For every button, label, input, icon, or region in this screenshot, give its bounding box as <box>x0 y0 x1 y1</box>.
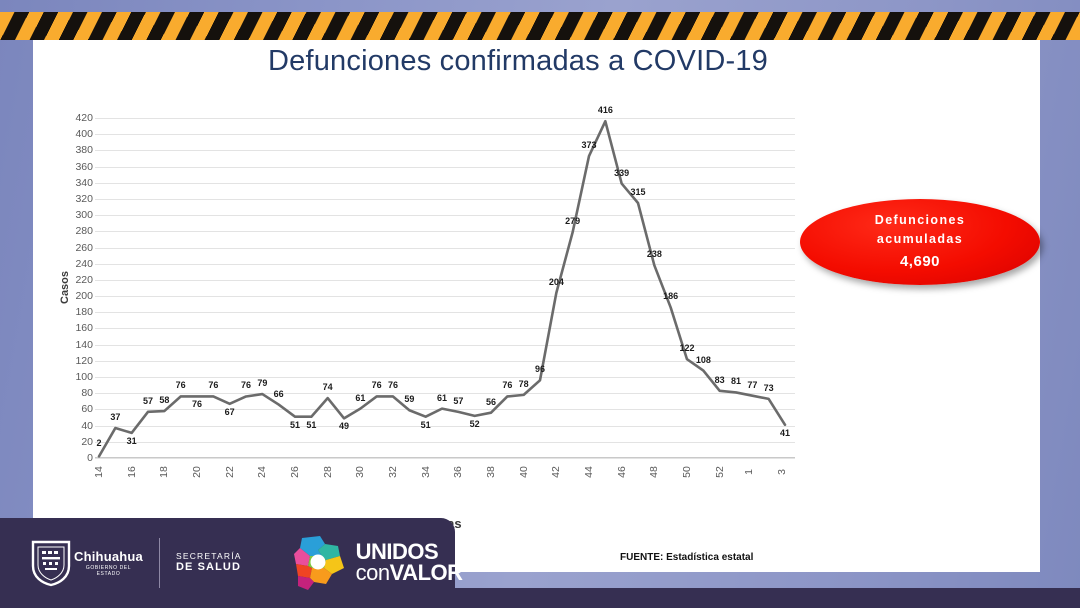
data-point-label: 51 <box>421 420 431 430</box>
x-axis-tick: 18 <box>158 466 170 478</box>
data-point-label: 57 <box>453 396 463 406</box>
y-axis-label: Casos <box>59 271 71 304</box>
source-note: FUENTE: Estadística estatal <box>620 552 753 563</box>
x-axis-tick: 38 <box>485 466 497 478</box>
x-axis-tick: 42 <box>550 466 562 478</box>
data-point-label: 416 <box>598 105 613 115</box>
data-point-label: 66 <box>274 389 284 399</box>
data-point-label: 238 <box>647 249 662 259</box>
data-point-label: 57 <box>143 396 153 406</box>
y-axis-tick: 0 <box>87 452 93 464</box>
data-point-label: 81 <box>731 376 741 386</box>
y-axis-tick: 220 <box>75 274 93 286</box>
plot-area: 0204060801001201401601802002202402602803… <box>95 118 795 458</box>
callout-text-group: Defunciones acumuladas 4,690 <box>800 199 1040 285</box>
secretaria-line-1: SECRETARÍA <box>176 551 242 562</box>
footer-branding-bar: Chihuahua GOBIERNO DEL ESTADO SECRETARÍA… <box>0 518 455 608</box>
data-point-label: 61 <box>437 393 447 403</box>
callout-line-1: Defunciones <box>875 211 965 230</box>
y-axis-tick: 100 <box>75 371 93 383</box>
data-point-label: 61 <box>355 393 365 403</box>
data-point-label: 373 <box>581 140 596 150</box>
data-point-label: 279 <box>565 216 580 226</box>
data-point-label: 315 <box>630 187 645 197</box>
data-point-label: 76 <box>176 380 186 390</box>
x-axis-tick: 48 <box>648 466 660 478</box>
covid-deaths-line-chart: Casos Semanas 02040608010012014016018020… <box>53 108 813 538</box>
brand-divider <box>159 538 160 588</box>
page-title: Defunciones confirmadas a COVID-19 <box>33 45 1003 78</box>
x-axis-tick: 24 <box>256 466 268 478</box>
unidos-con: con <box>356 560 390 585</box>
y-axis-tick: 420 <box>75 112 93 124</box>
data-point-label: 67 <box>225 407 235 417</box>
data-point-label: 108 <box>696 355 711 365</box>
x-axis-tick: 40 <box>518 466 530 478</box>
data-point-label: 37 <box>110 412 120 422</box>
y-axis-tick: 380 <box>75 144 93 156</box>
unidos-line-2: conVALOR <box>356 563 463 584</box>
x-axis-tick: 52 <box>714 466 726 478</box>
y-axis-tick: 400 <box>75 128 93 140</box>
slide-content-panel: Defunciones confirmadas a COVID-19 Casos… <box>33 38 1040 572</box>
grid-line <box>95 458 795 459</box>
callout-total-value: 4,690 <box>900 250 940 273</box>
accumulated-deaths-callout: Defunciones acumuladas 4,690 <box>800 199 1040 285</box>
data-point-label: 76 <box>372 380 382 390</box>
y-axis-tick: 120 <box>75 355 93 367</box>
x-axis-tick: 26 <box>289 466 301 478</box>
y-axis-tick: 320 <box>75 193 93 205</box>
x-axis-tick: 14 <box>93 466 105 478</box>
y-axis-tick: 360 <box>75 161 93 173</box>
y-axis-tick: 140 <box>75 339 93 351</box>
secretaria-line-2: DE SALUD <box>176 561 242 575</box>
data-point-label: 2 <box>96 438 101 448</box>
data-point-label: 56 <box>486 397 496 407</box>
y-axis-tick: 340 <box>75 177 93 189</box>
state-subtitle: GOBIERNO DEL ESTADO <box>74 565 143 577</box>
data-point-label: 204 <box>549 277 564 287</box>
unidos-valor: VALOR <box>390 560 463 585</box>
brand-row: Chihuahua GOBIERNO DEL ESTADO SECRETARÍA… <box>30 530 463 596</box>
y-axis-tick: 280 <box>75 225 93 237</box>
state-name: Chihuahua <box>74 549 143 564</box>
unidos-wordmark: UNIDOS conVALOR <box>356 542 463 583</box>
data-point-label: 76 <box>502 380 512 390</box>
data-point-label: 122 <box>679 343 694 353</box>
chihuahua-map-icon <box>288 534 348 592</box>
y-axis-tick: 300 <box>75 209 93 221</box>
data-point-label: 96 <box>535 364 545 374</box>
y-axis-tick: 240 <box>75 258 93 270</box>
y-axis-tick: 60 <box>81 403 93 415</box>
y-axis-tick: 20 <box>81 436 93 448</box>
x-axis-tick: 1 <box>746 466 752 478</box>
data-point-label: 51 <box>306 420 316 430</box>
data-point-label: 59 <box>404 394 414 404</box>
data-point-label: 76 <box>208 380 218 390</box>
data-point-label: 73 <box>764 383 774 393</box>
data-point-label: 77 <box>747 380 757 390</box>
data-point-label: 76 <box>241 380 251 390</box>
x-axis-tick: 20 <box>191 466 203 478</box>
x-axis-tick: 16 <box>126 466 138 478</box>
y-axis-tick: 80 <box>81 387 93 399</box>
x-axis-tick: 44 <box>583 466 595 478</box>
x-axis-tick: 34 <box>420 466 432 478</box>
data-point-label: 186 <box>663 291 678 301</box>
x-axis-tick: 32 <box>387 466 399 478</box>
health-ministry-brand: SECRETARÍA DE SALUD <box>176 551 242 575</box>
data-point-label: 79 <box>257 378 267 388</box>
data-point-label: 51 <box>290 420 300 430</box>
x-axis-tick: 22 <box>224 466 236 478</box>
x-axis-tick: 46 <box>616 466 628 478</box>
data-point-label: 83 <box>715 375 725 385</box>
y-axis-tick: 180 <box>75 306 93 318</box>
callout-line-2: acumuladas <box>877 230 963 249</box>
data-point-label: 58 <box>159 395 169 405</box>
data-point-label: 76 <box>192 399 202 409</box>
data-point-label: 52 <box>470 419 480 429</box>
data-point-label: 76 <box>388 380 398 390</box>
data-point-label: 339 <box>614 168 629 178</box>
y-axis-tick: 160 <box>75 322 93 334</box>
x-axis-tick: 36 <box>452 466 464 478</box>
state-brand: Chihuahua GOBIERNO DEL ESTADO <box>74 549 143 577</box>
x-axis-tick: 28 <box>322 466 334 478</box>
y-axis-tick: 40 <box>81 420 93 432</box>
data-point-label: 49 <box>339 421 349 431</box>
data-point-label: 41 <box>780 428 790 438</box>
y-axis-tick: 260 <box>75 242 93 254</box>
shield-icon <box>30 539 72 587</box>
hazard-stripe-decoration <box>0 12 1080 40</box>
unidos-con-valor-logo: UNIDOS conVALOR <box>288 534 463 592</box>
x-axis-tick: 3 <box>779 466 785 478</box>
y-axis-tick: 200 <box>75 290 93 302</box>
data-point-label: 74 <box>323 382 333 392</box>
x-axis-tick: 30 <box>354 466 366 478</box>
data-point-label: 31 <box>127 436 137 446</box>
x-axis-tick: 50 <box>681 466 693 478</box>
data-point-label: 78 <box>519 379 529 389</box>
